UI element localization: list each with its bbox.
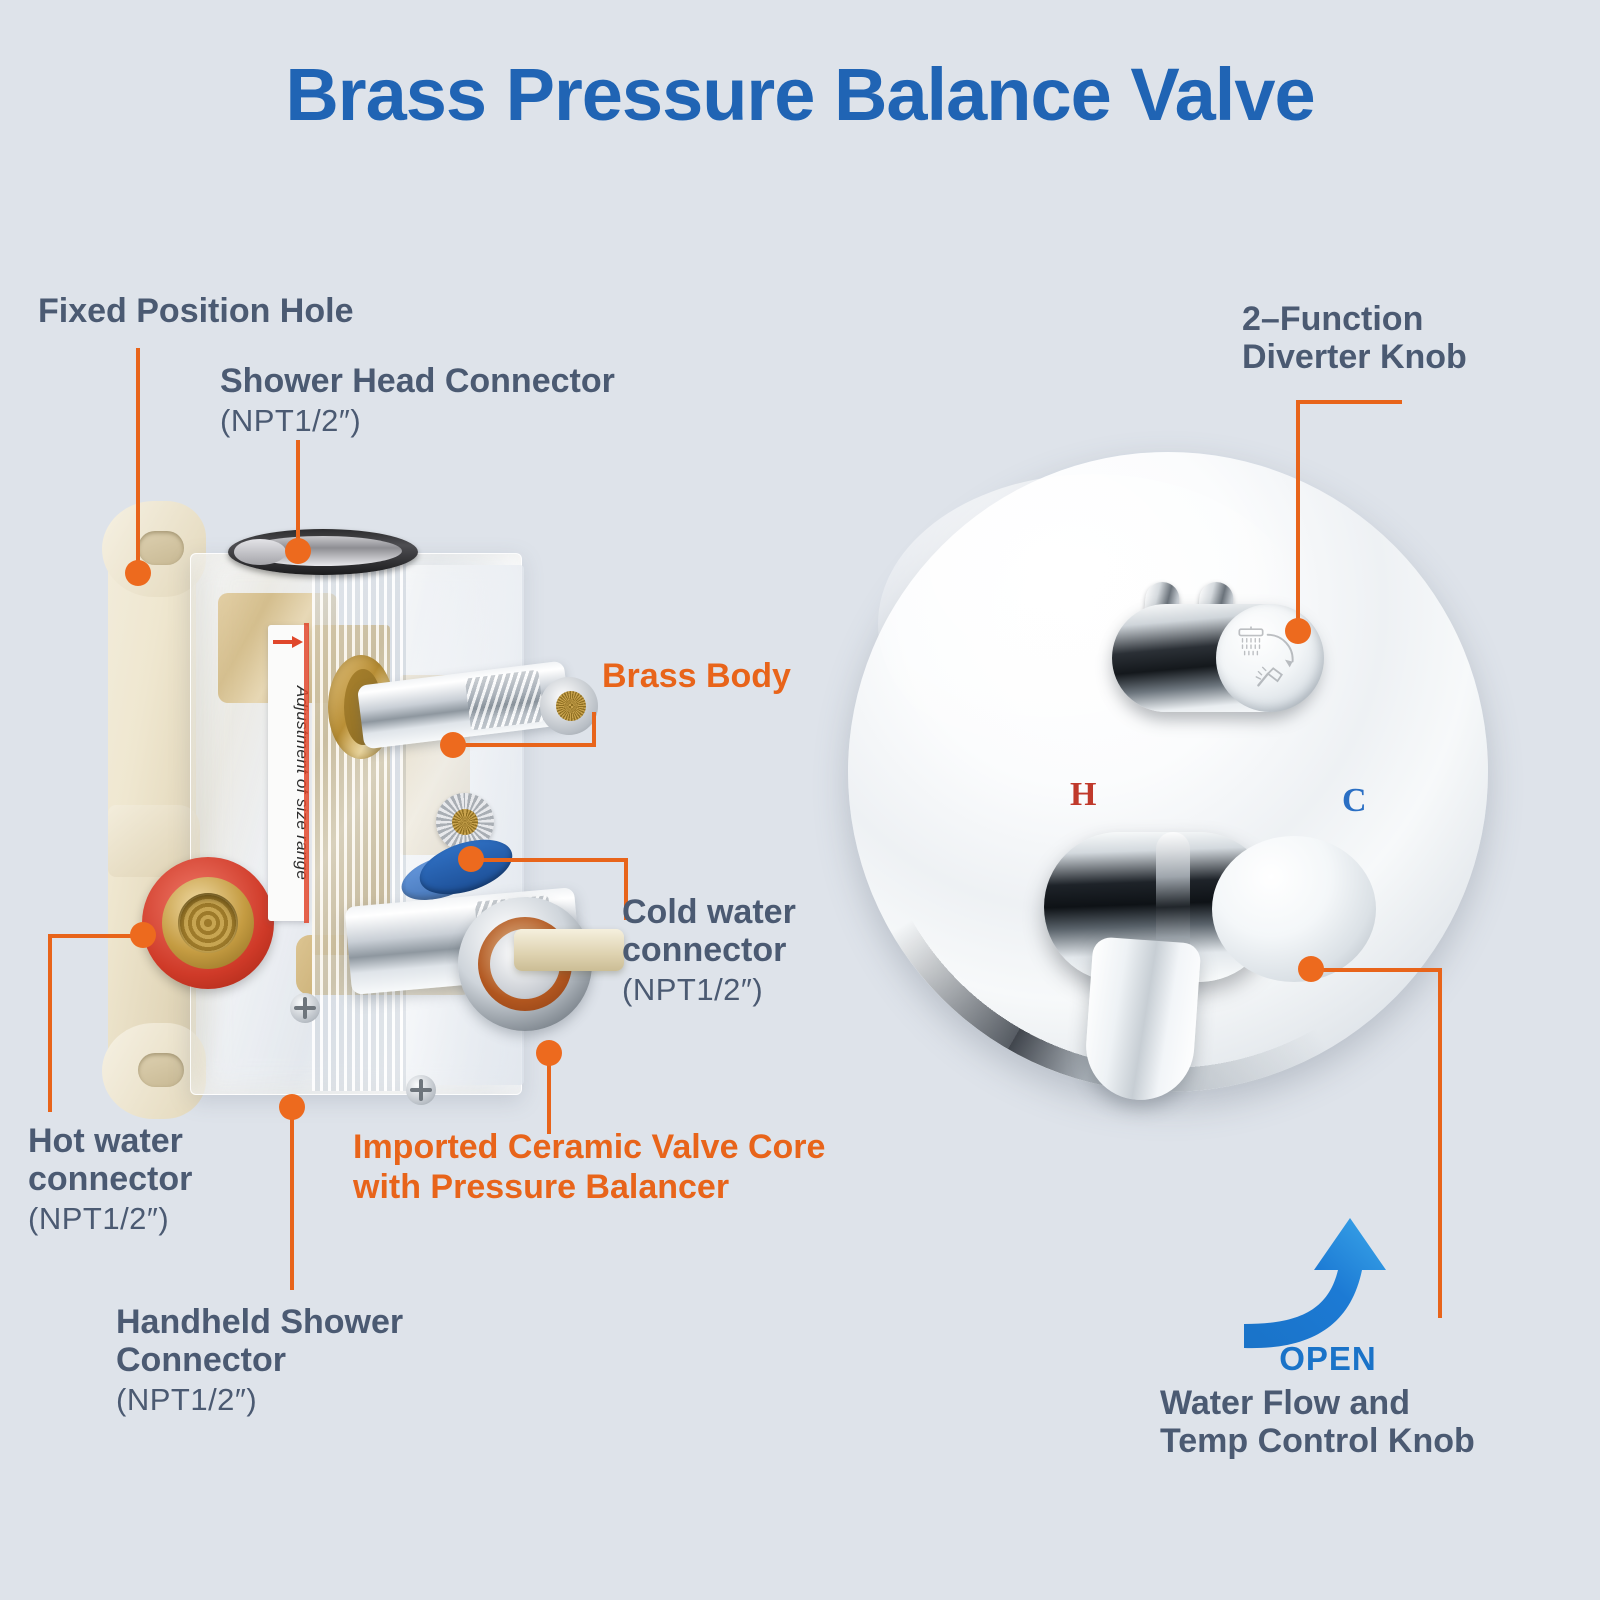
label-control-knob: Water Flow and Temp Control Knob — [1160, 1384, 1475, 1460]
cold-marking: C — [1342, 782, 1367, 820]
temp-control-knob[interactable] — [1044, 822, 1374, 1092]
label-shower-head-connector: Shower Head Connector (NPT1/2″) — [220, 362, 615, 439]
label-cold-water-line2: connector — [622, 931, 786, 969]
right-arrow-icon — [273, 635, 303, 649]
trim-plate-image: H C — [848, 452, 1488, 1112]
leader-dot-ceramic-core — [536, 1040, 562, 1066]
fixed-position-hole-top — [138, 531, 184, 565]
housing-ribs — [312, 557, 406, 1091]
leader-brass-body-v — [592, 712, 596, 746]
diverter-knob-cap[interactable] — [1216, 604, 1324, 712]
infographic-canvas: Brass Pressure Balance Valve — [0, 0, 1600, 1600]
label-fixed-position-hole: Fixed Position Hole — [38, 292, 353, 330]
label-ceramic-valve-core: Imported Ceramic Valve Core with Pressur… — [353, 1127, 825, 1207]
hot-marking: H — [1070, 776, 1096, 814]
control-knob-cap[interactable] — [1212, 836, 1376, 982]
label-cold-water-connector: Cold water connector (NPT1/2″) — [622, 893, 796, 1008]
label-diverter-knob: 2–Function Diverter Knob — [1242, 300, 1467, 376]
label-shower-head-connector-title: Shower Head Connector — [220, 362, 615, 400]
leader-dot-shower-head-connector — [285, 538, 311, 564]
label-fixed-position-hole-title: Fixed Position Hole — [38, 292, 353, 330]
diverter-knob[interactable] — [1112, 582, 1320, 712]
leader-diverter-h — [1296, 400, 1402, 404]
hot-water-connector-port — [162, 877, 254, 969]
leader-control-knob-h — [1310, 968, 1442, 972]
label-control-knob-line1: Water Flow and — [1160, 1384, 1410, 1422]
housing-screw-bottom — [406, 1075, 436, 1105]
leader-dot-hot-water — [130, 922, 156, 948]
size-range-sticker: Adjustment of size range — [268, 625, 308, 921]
leader-control-knob-v — [1438, 968, 1442, 1318]
open-direction-arrow-icon — [1238, 1208, 1418, 1358]
rough-in-valve-image: Adjustment of size range — [100, 505, 620, 1115]
label-ceramic-core-line2: with Pressure Balancer — [353, 1168, 729, 1206]
control-knob-lever[interactable] — [1083, 936, 1202, 1103]
hot-water-connector-washer — [142, 857, 274, 989]
label-cold-water-sub: (NPT1/2″) — [622, 973, 796, 1008]
label-ceramic-core-line1: Imported Ceramic Valve Core — [353, 1128, 825, 1166]
leader-diverter-v — [1296, 400, 1300, 630]
fixed-position-hole-bottom — [138, 1053, 184, 1087]
label-handheld-sub: (NPT1/2″) — [116, 1383, 403, 1418]
label-hot-water-line2: connector — [28, 1160, 192, 1198]
leader-hot-water-v — [48, 934, 52, 1112]
ceramic-valve-core-plug — [514, 929, 624, 971]
leader-cold-water-h — [470, 858, 628, 862]
page-title: Brass Pressure Balance Valve — [0, 52, 1600, 137]
leader-shower-head-connector — [296, 440, 300, 550]
label-hot-water-sub: (NPT1/2″) — [28, 1202, 192, 1237]
leader-dot-brass-body — [440, 732, 466, 758]
shower-head-connector-hub — [234, 539, 286, 565]
leader-dot-diverter — [1285, 618, 1311, 644]
leader-brass-body-h — [450, 743, 596, 747]
leader-dot-fixed-position-hole — [125, 560, 151, 586]
label-hot-water-line1: Hot water — [28, 1122, 183, 1160]
label-shower-head-connector-sub: (NPT1/2″) — [220, 404, 615, 439]
label-handheld-line2: Connector — [116, 1341, 286, 1379]
open-label: OPEN — [1238, 1340, 1418, 1378]
housing-screw-top — [290, 993, 320, 1023]
shower-head-connector-port — [228, 529, 418, 575]
cartridge-stem-splines — [556, 691, 586, 721]
label-control-knob-line2: Temp Control Knob — [1160, 1422, 1475, 1460]
label-cold-water-line1: Cold water — [622, 893, 796, 931]
sticker-accent-bar — [304, 623, 309, 923]
label-handheld-line1: Handheld Shower — [116, 1303, 403, 1341]
leader-dot-control-knob — [1298, 956, 1324, 982]
leader-dot-handheld-shower — [279, 1094, 305, 1120]
leader-dot-cold-water — [458, 846, 484, 872]
label-handheld-shower-connector: Handheld Shower Connector (NPT1/2″) — [116, 1303, 403, 1418]
label-diverter-line2: Diverter Knob — [1242, 338, 1467, 376]
leader-handheld-shower — [290, 1106, 294, 1290]
leader-fixed-position-hole — [136, 348, 140, 570]
label-brass-body: Brass Body — [602, 657, 791, 695]
cartridge-stem-threads — [465, 670, 545, 731]
label-diverter-line1: 2–Function — [1242, 300, 1423, 338]
label-brass-body-title: Brass Body — [602, 657, 791, 695]
label-hot-water-connector: Hot water connector (NPT1/2″) — [28, 1122, 192, 1237]
